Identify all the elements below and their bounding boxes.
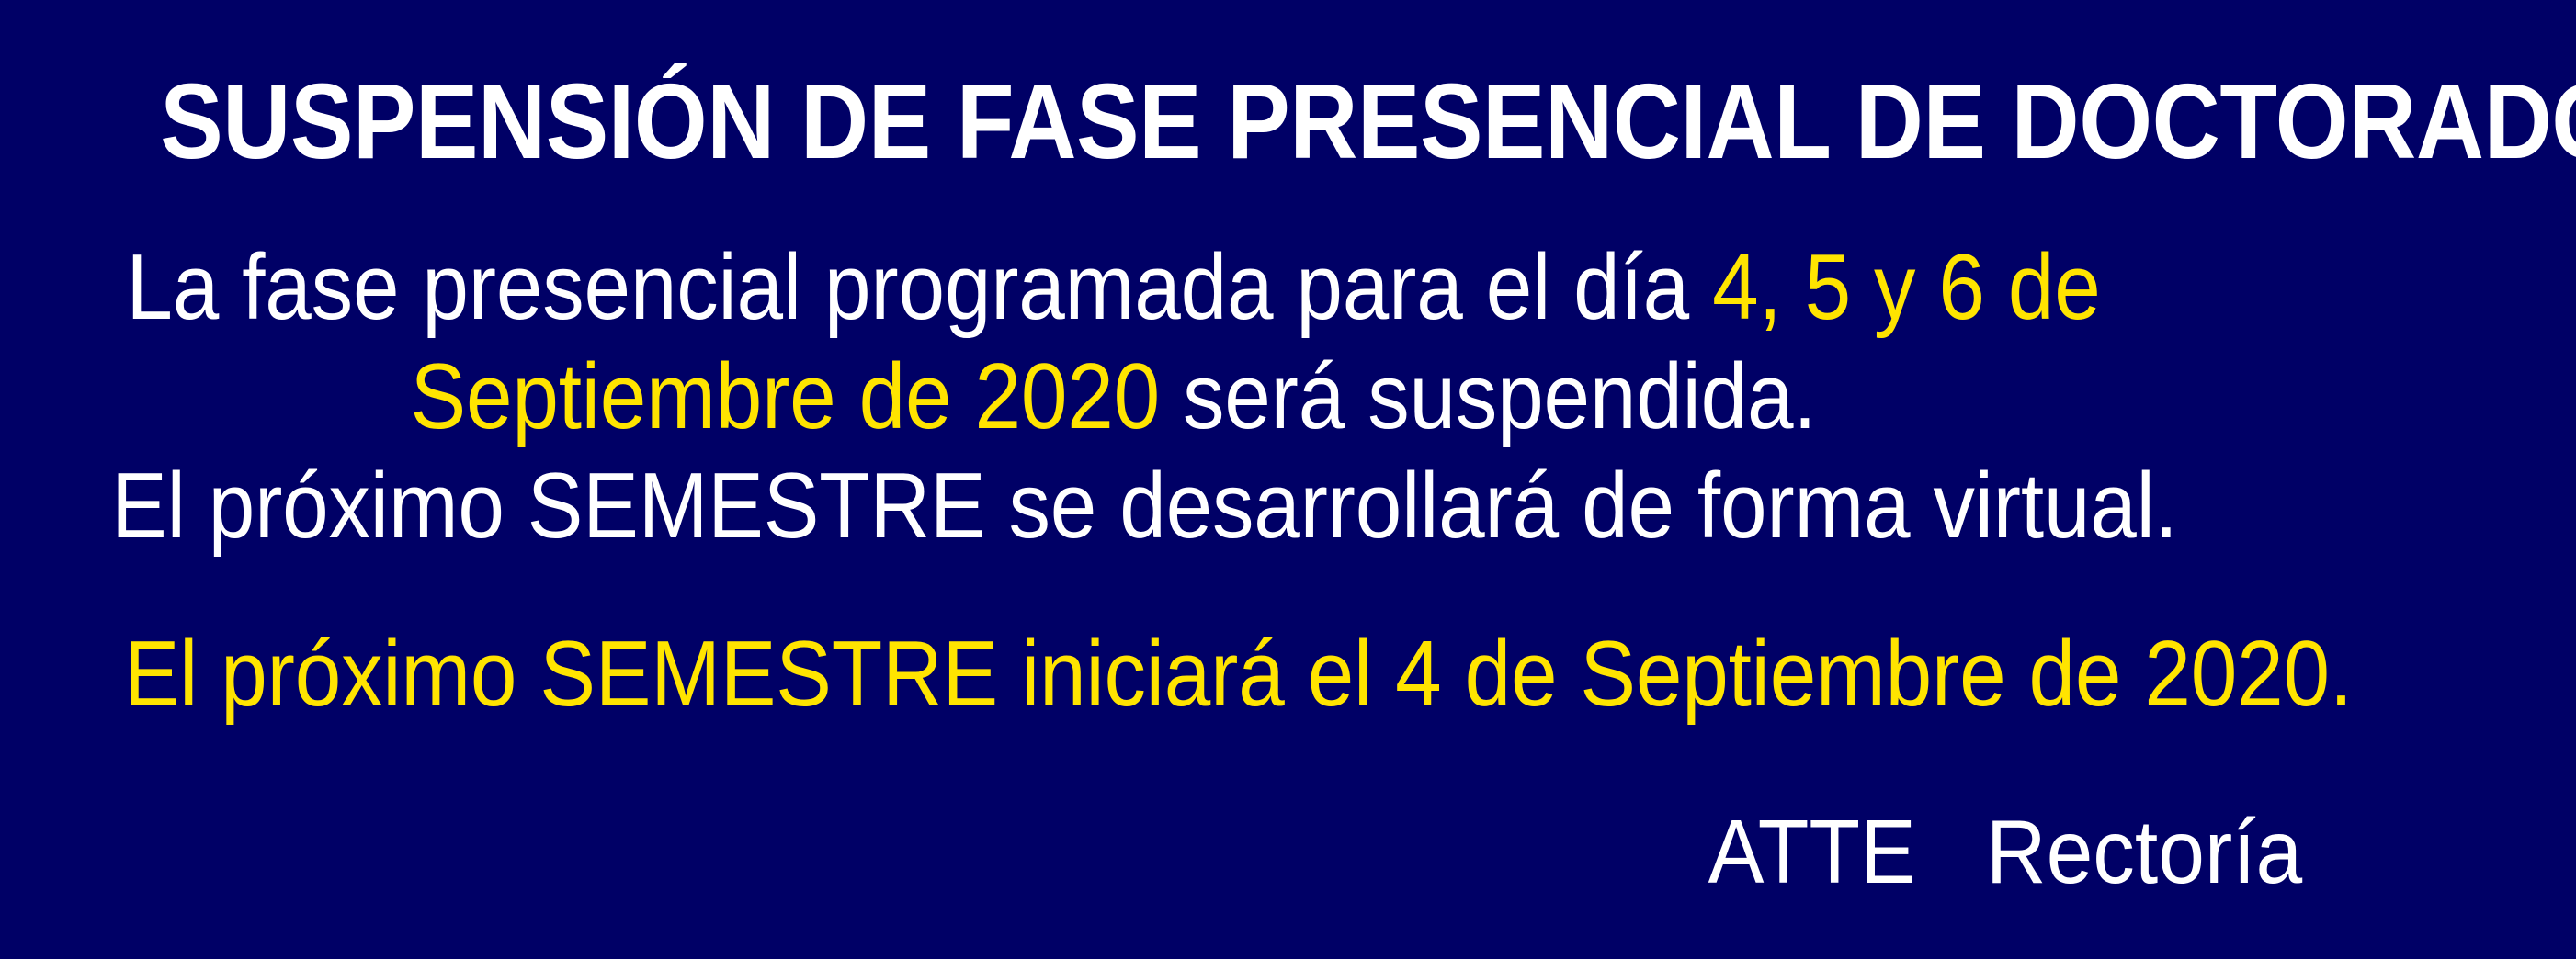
signature-text: ATTE Rectoría xyxy=(1708,807,2302,897)
announcement-text: El próximo SEMESTRE iniciará el 4 de Sep… xyxy=(124,628,2353,721)
page-title: SUSPENSIÓN DE FASE PRESENCIAL DE DOCTORA… xyxy=(160,68,2576,175)
notice-body: La fase presencial programada para el dí… xyxy=(0,233,2576,562)
notice-line-1: La fase presencial programada para el dí… xyxy=(111,233,2116,343)
notice-line-1-highlight: 4, 5 y 6 de xyxy=(1712,236,2101,339)
notice-line-2-highlight: Septiembre de 2020 xyxy=(411,345,1160,448)
notice-line-2-white: será suspendida. xyxy=(1160,345,1817,448)
notice-poster: SUSPENSIÓN DE FASE PRESENCIAL DE DOCTORA… xyxy=(0,0,2576,959)
title-row: SUSPENSIÓN DE FASE PRESENCIAL DE DOCTORA… xyxy=(0,68,2576,175)
notice-line-1-white: La fase presencial programada para el dí… xyxy=(126,236,1712,339)
notice-line-3-white: El próximo SEMESTRE se desarrollará de f… xyxy=(111,455,2178,558)
signature-row: ATTE Rectoría xyxy=(0,807,2576,897)
notice-line-2: Septiembre de 2020 será suspendida. xyxy=(111,343,2116,452)
notice-line-3: El próximo SEMESTRE se desarrollará de f… xyxy=(111,452,2116,561)
announcement-row: El próximo SEMESTRE iniciará el 4 de Sep… xyxy=(0,628,2576,721)
